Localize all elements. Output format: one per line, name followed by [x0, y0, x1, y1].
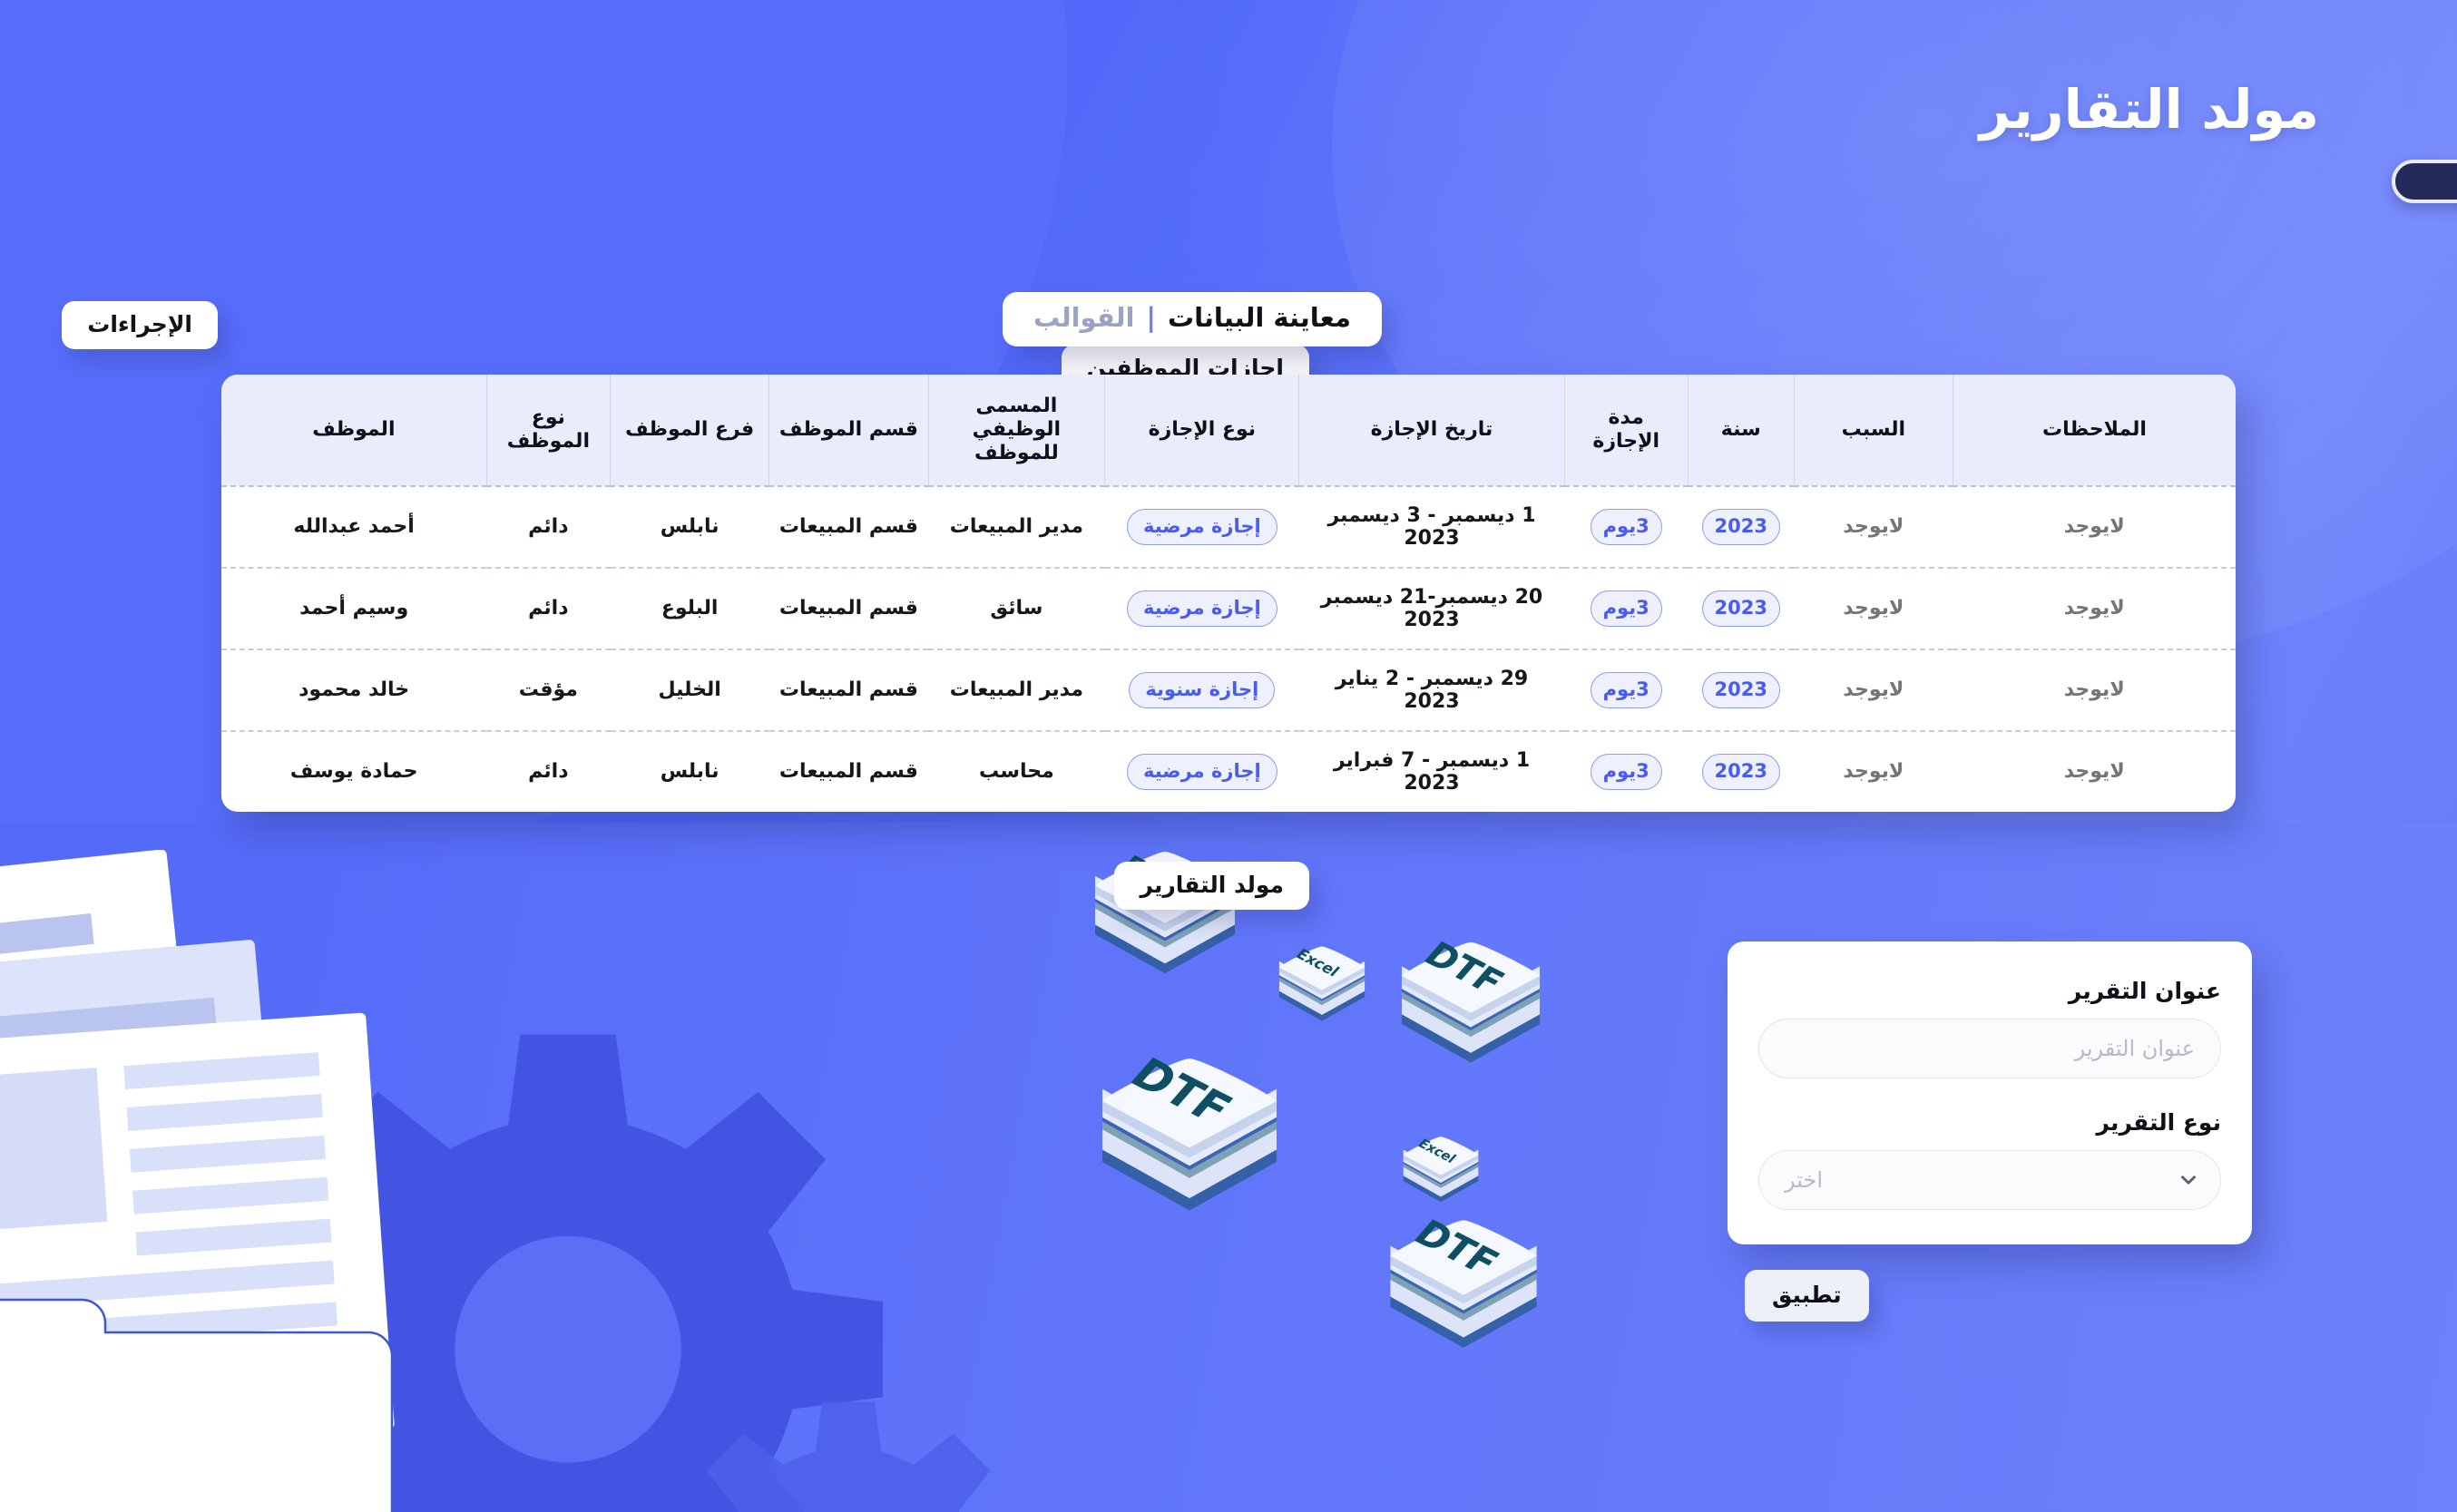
cell-duration: 3يوم [1564, 731, 1688, 812]
leave-type-pill: إجازة مرضية [1127, 590, 1277, 627]
report-type-select[interactable]: اختر [1758, 1150, 2221, 1210]
cell-employee-type: دائم [486, 731, 610, 812]
cell-notes: لايوجد [1953, 649, 2236, 731]
leaves-table-card: الملاحظات السبب سنة مدة الإجازة تاريخ ال… [221, 375, 2236, 812]
edge-toggle-pill[interactable] [2392, 160, 2457, 203]
report-type-value: اختر [1785, 1167, 1823, 1193]
cell-reason: لايوجد [1794, 649, 1953, 731]
duration-pill: 3يوم [1591, 672, 1662, 708]
cell-year: 2023 [1688, 486, 1794, 568]
cell-reason: لايوجد [1794, 568, 1953, 649]
column-header-reason[interactable]: السبب [1794, 375, 1953, 486]
cell-notes: لايوجد [1953, 486, 2236, 568]
table-header-row: الملاحظات السبب سنة مدة الإجازة تاريخ ال… [221, 375, 2236, 486]
cell-job-title: مدير المبيعات [928, 486, 1105, 568]
table-row: لايوجد لايوجد 2023 3يوم 29 ديسمبر - 2 ين… [221, 649, 2236, 731]
cell-duration: 3يوم [1564, 568, 1688, 649]
app-canvas: Excel Excel [0, 0, 2457, 1512]
cell-employee-type: دائم [486, 486, 610, 568]
cell-notes: لايوجد [1953, 568, 2236, 649]
cell-branch: نابلس [611, 731, 769, 812]
column-header-year[interactable]: سنة [1688, 375, 1794, 486]
cell-branch: نابلس [611, 486, 769, 568]
leave-type-pill: إجازة مرضية [1127, 754, 1277, 790]
file-cubes-illustration: Excel Excel [1071, 844, 1669, 1512]
cell-employee: وسيم أحمد [221, 568, 486, 649]
table-body: لايوجد لايوجد 2023 3يوم 1 ديسمبر - 3 ديس… [221, 486, 2236, 812]
report-generator-form: عنوان التقرير نوع التقرير اختر [1728, 941, 2252, 1244]
cell-year: 2023 [1688, 568, 1794, 649]
duration-pill: 3يوم [1591, 509, 1662, 545]
cell-year: 2023 [1688, 731, 1794, 812]
year-pill: 2023 [1702, 754, 1780, 790]
cell-leave-type: إجازة سنوية [1105, 649, 1299, 731]
cell-employee: حمادة يوسف [221, 731, 486, 812]
cell-reason: لايوجد [1794, 486, 1953, 568]
leave-type-pill: إجازة سنوية [1129, 672, 1275, 708]
cell-year: 2023 [1688, 649, 1794, 731]
cell-branch: البلوع [611, 568, 769, 649]
column-header-department[interactable]: قسم الموظف [769, 375, 928, 486]
badge-report-generator[interactable]: مولد التقارير [1114, 862, 1309, 910]
cell-department: قسم المبيعات [769, 486, 928, 568]
column-header-branch[interactable]: فرع الموظف [611, 375, 769, 486]
cell-leave-date: 1 ديسمبر - 3 ديسمبر 2023 [1299, 486, 1564, 568]
column-header-job-title[interactable]: المسمى الوظيفي للموظف [928, 375, 1105, 486]
report-type-label: نوع التقرير [1758, 1109, 2221, 1136]
table-header: الملاحظات السبب سنة مدة الإجازة تاريخ ال… [221, 375, 2236, 486]
cell-leave-type: إجازة مرضية [1105, 568, 1299, 649]
leave-type-pill: إجازة مرضية [1127, 509, 1277, 545]
file-cube-dtf: DTF [1085, 1049, 1294, 1241]
page-title: مولد التقارير [1980, 78, 2319, 141]
badge-actions[interactable]: الإجراءات [62, 301, 218, 349]
column-header-leave-date[interactable]: تاريخ الإجازة [1299, 375, 1564, 486]
report-title-label: عنوان التقرير [1758, 978, 2221, 1004]
column-header-leave-type[interactable]: نوع الإجازة [1105, 375, 1299, 486]
cell-employee-type: مؤقت [486, 649, 610, 731]
chevron-down-icon [2177, 1168, 2200, 1192]
cell-employee: أحمد عبدالله [221, 486, 486, 568]
documents-folder-icon [0, 850, 590, 1512]
cell-leave-type: إجازة مرضية [1105, 486, 1299, 568]
tab-separator: | [1146, 305, 1156, 331]
cell-duration: 3يوم [1564, 486, 1688, 568]
cell-job-title: محاسب [928, 731, 1105, 812]
table-row: لايوجد لايوجد 2023 3يوم 1 ديسمبر - 3 ديس… [221, 486, 2236, 568]
employee-leaves-table: الملاحظات السبب سنة مدة الإجازة تاريخ ال… [221, 375, 2236, 812]
tab-templates[interactable]: القوالب [1033, 305, 1134, 331]
report-title-input[interactable] [1758, 1019, 2221, 1078]
cell-department: قسم المبيعات [769, 649, 928, 731]
file-cube-excel: Excel [1272, 941, 1372, 1036]
cell-leave-date: 20 ديسمبر-21 ديسمبر 2023 [1299, 568, 1564, 649]
table-row: لايوجد لايوجد 2023 3يوم 1 ديسمبر - 7 فبر… [221, 731, 2236, 812]
file-cube-excel: Excel [1397, 1132, 1484, 1215]
tab-data-preview[interactable]: معاينة البيانات [1168, 305, 1351, 331]
year-pill: 2023 [1702, 672, 1780, 708]
cell-leave-date: 29 ديسمبر - 2 يناير 2023 [1299, 649, 1564, 731]
year-pill: 2023 [1702, 590, 1780, 627]
duration-pill: 3يوم [1591, 754, 1662, 790]
cell-leave-date: 1 ديسمبر - 7 فبراير 2023 [1299, 731, 1564, 812]
cell-job-title: مدير المبيعات [928, 649, 1105, 731]
column-header-employee[interactable]: الموظف [221, 375, 486, 486]
column-header-employee-type[interactable]: نوع الموظف [486, 375, 610, 486]
year-pill: 2023 [1702, 509, 1780, 545]
file-cube-dtf: DTF [1390, 934, 1552, 1087]
file-cube-dtf: DTF [1377, 1212, 1550, 1373]
cell-reason: لايوجد [1794, 731, 1953, 812]
duration-pill: 3يوم [1591, 590, 1662, 627]
apply-button[interactable]: تطبيق [1745, 1270, 1869, 1322]
cell-duration: 3يوم [1564, 649, 1688, 731]
column-header-duration[interactable]: مدة الإجازة [1564, 375, 1688, 486]
cell-department: قسم المبيعات [769, 568, 928, 649]
report-type-select-wrapper: اختر [1758, 1150, 2221, 1210]
cell-branch: الخليل [611, 649, 769, 731]
table-row: لايوجد لايوجد 2023 3يوم 20 ديسمبر-21 ديس… [221, 568, 2236, 649]
cell-employee-type: دائم [486, 568, 610, 649]
cell-employee: خالد محمود [221, 649, 486, 731]
column-header-notes[interactable]: الملاحظات [1953, 375, 2236, 486]
cell-notes: لايوجد [1953, 731, 2236, 812]
cell-department: قسم المبيعات [769, 731, 928, 812]
cell-leave-type: إجازة مرضية [1105, 731, 1299, 812]
gear-icon-secondary [653, 1394, 1043, 1512]
cell-job-title: سائق [928, 568, 1105, 649]
tabs-pill: معاينة البيانات | القوالب [1003, 292, 1382, 346]
field-spacer [1758, 1078, 2221, 1109]
